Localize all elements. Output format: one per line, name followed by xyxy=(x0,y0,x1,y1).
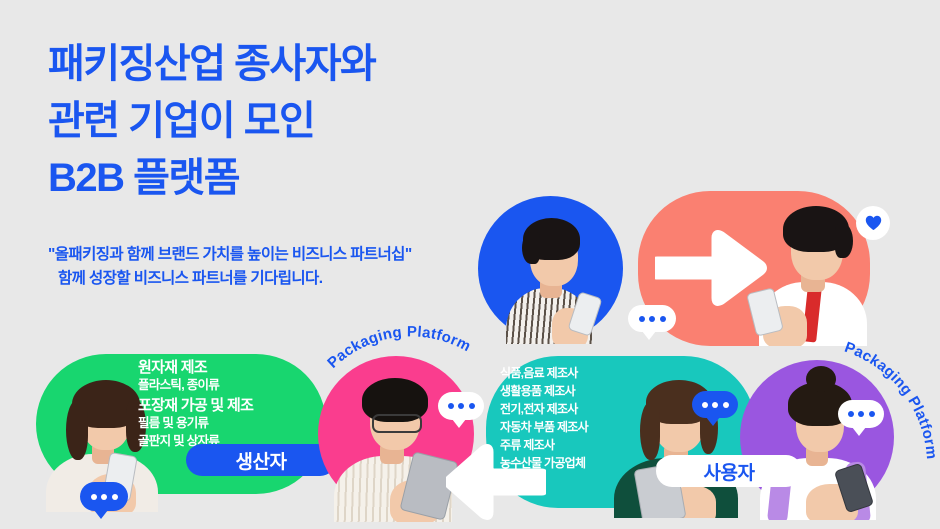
bubble-tail xyxy=(94,510,108,519)
heart-icon xyxy=(865,215,882,231)
chat-bubble-purple xyxy=(838,400,884,428)
badge-user-label: 사용자 xyxy=(704,458,755,485)
chat-dot xyxy=(869,411,875,417)
chat-dot xyxy=(649,316,655,322)
headline-line-3: B2B 플랫폼 xyxy=(48,150,518,207)
person-photo-purple xyxy=(744,362,892,520)
person-photo-top-left xyxy=(478,196,623,344)
chat-dot xyxy=(712,402,718,408)
chat-dot xyxy=(858,411,864,417)
chat-dot xyxy=(101,494,107,500)
subtitle-line-1: "올패키징과 함께 브랜드 가치를 높이는 비즈니스 파트너십" xyxy=(48,243,478,267)
bubble-tail xyxy=(642,331,656,340)
chat-dot xyxy=(723,402,729,408)
chat-bubble-platform xyxy=(438,392,484,420)
chat-dot xyxy=(660,316,666,322)
bubble-tail xyxy=(706,417,720,426)
producer-block-1-item-0: 필름 및 용기류 xyxy=(138,415,318,432)
subtitle: "올패키징과 함께 브랜드 가치를 높이는 비즈니스 파트너십" 함께 성장할 … xyxy=(48,243,478,291)
badge-producer[interactable]: 생산자 xyxy=(186,444,336,476)
chat-bubble-top xyxy=(628,305,676,332)
chat-dot xyxy=(469,403,475,409)
headline-line-1: 패키징산업 종사자와 xyxy=(48,36,518,93)
glasses-icon xyxy=(372,414,422,433)
chat-bubble-user xyxy=(692,391,738,418)
headline-line-2: 관련 기업이 모인 xyxy=(48,93,518,150)
producer-block-0-title: 원자재 제조 xyxy=(138,358,318,377)
promo-banner: 패키징산업 종사자와 관련 기업이 모인 B2B 플랫폼 "올패키징과 함께 브… xyxy=(0,0,940,529)
chat-dot xyxy=(848,411,854,417)
producer-block-1-title: 포장재 가공 및 제조 xyxy=(138,396,318,415)
chat-dot xyxy=(702,402,708,408)
chat-dot xyxy=(458,403,464,409)
chat-dot xyxy=(91,494,97,500)
subtitle-line-2: 함께 성장할 비즈니스 파트너를 기다립니다. xyxy=(48,267,478,291)
chat-dot xyxy=(639,316,645,322)
person-photo-user xyxy=(608,362,748,518)
chat-bubble-producer xyxy=(80,482,128,511)
producer-block-0-item-0: 플라스틱, 종이류 xyxy=(138,377,318,394)
heart-badge xyxy=(856,206,890,240)
producer-card-text: 원자재 제조 플라스틱, 종이류 포장재 가공 및 제조 필름 및 용기류 골판… xyxy=(138,358,318,452)
badge-producer-label: 생산자 xyxy=(236,447,287,474)
chat-dot xyxy=(112,494,118,500)
chat-dot xyxy=(448,403,454,409)
badge-user[interactable]: 사용자 xyxy=(656,455,802,487)
bubble-tail xyxy=(452,419,466,428)
bubble-tail xyxy=(852,427,866,436)
page-title: 패키징산업 종사자와 관련 기업이 모인 B2B 플랫폼 xyxy=(48,36,518,206)
